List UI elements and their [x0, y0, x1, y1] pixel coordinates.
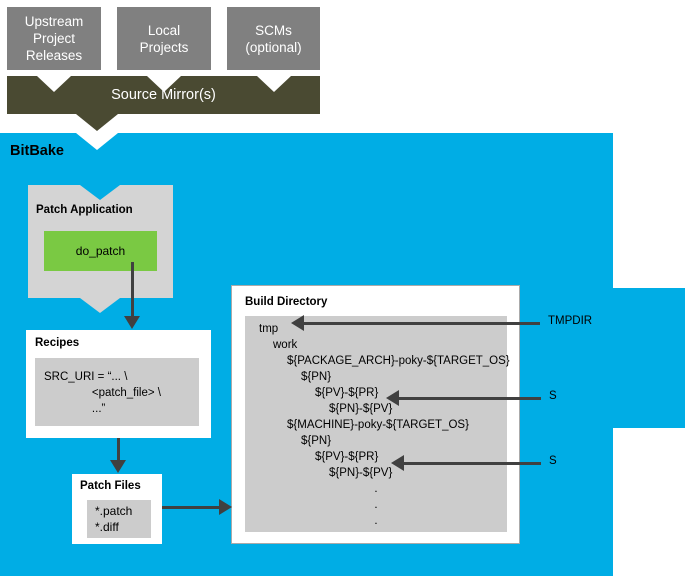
source-box-label: SCMs (optional): [231, 22, 316, 56]
patch-application-panel[interactable]: Patch Application do_patch: [28, 185, 173, 298]
arrow-patchfiles-to-builddir-shaft: [162, 506, 222, 509]
bitbake-label: BitBake: [10, 143, 64, 159]
arrow-patchfiles-to-builddir-head-icon: [219, 499, 232, 515]
arrow-dopatch-to-recipes-shaft: [131, 262, 134, 318]
build-directory-tree: tmpwork${PACKAGE_ARCH}-poky-${TARGET_OS}…: [245, 321, 507, 529]
build-directory-tree-node: ${PN}-${PV}: [245, 401, 507, 417]
arrow-recipes-to-patchfiles-head-icon: [110, 460, 126, 473]
callout-tmpdir-head-icon: [291, 315, 304, 331]
s-callout-label-1: S: [549, 390, 557, 402]
patch-files-title: Patch Files: [80, 480, 141, 492]
source-notch-scms-icon: [257, 76, 291, 92]
patch-application-title: Patch Application: [36, 204, 133, 216]
build-directory-title: Build Directory: [245, 296, 327, 308]
recipes-inner-panel: SRC_URI = “... \ <patch_file> \ ...”: [35, 358, 199, 426]
recipes-title: Recipes: [35, 337, 79, 349]
build-directory-tree-node: ${PN}: [245, 433, 507, 449]
bitbake-top-notch-icon: [76, 133, 118, 150]
source-box-upstream-project-releases[interactable]: Upstream Project Releases: [7, 7, 101, 70]
callout-s1-shaft: [395, 397, 541, 400]
recipes-src-uri-text: SRC_URI = “... \ <patch_file> \ ...”: [44, 369, 161, 417]
callout-s1-head-icon: [386, 390, 399, 406]
build-directory-tree-node: ${PN}-${PV}: [245, 465, 507, 481]
patch-files-entries: *.patch *.diff: [95, 503, 132, 535]
callout-tmpdir-shaft: [300, 322, 540, 325]
source-box-label: Local Projects: [121, 22, 207, 56]
source-box-scms-optional[interactable]: SCMs (optional): [227, 7, 320, 70]
do-patch-task-box[interactable]: do_patch: [44, 231, 157, 271]
do-patch-label: do_patch: [76, 244, 125, 258]
callout-s2-head-icon: [391, 455, 404, 471]
build-directory-ellipsis-dot: .: [245, 497, 507, 513]
source-box-label: Upstream Project Releases: [11, 13, 97, 64]
tmpdir-callout-label: TMPDIR: [548, 315, 592, 327]
source-notch-upstream-icon: [37, 76, 71, 92]
patch-files-panel[interactable]: Patch Files *.patch *.diff: [72, 474, 162, 544]
arrow-dopatch-to-recipes-head-icon: [124, 316, 140, 329]
s-callout-label-2: S: [549, 455, 557, 467]
build-directory-tree-node: work: [245, 337, 507, 353]
build-directory-tree-node: ${PN}: [245, 369, 507, 385]
recipes-panel[interactable]: Recipes SRC_URI = “... \ <patch_file> \ …: [26, 330, 211, 438]
patch-files-inner-panel: *.patch *.diff: [87, 500, 151, 538]
build-directory-ellipsis-dot: .: [245, 481, 507, 497]
patch-application-top-notch-icon: [80, 185, 120, 200]
build-directory-inner-panel: tmpwork${PACKAGE_ARCH}-poky-${TARGET_OS}…: [245, 316, 507, 532]
patch-application-bottom-chevron-icon: [80, 298, 120, 313]
build-directory-tree-node: ${PACKAGE_ARCH}-poky-${TARGET_OS}: [245, 353, 507, 369]
source-notch-local-icon: [147, 76, 181, 92]
build-directory-ellipsis-dot: .: [245, 513, 507, 529]
callout-s2-shaft: [400, 462, 541, 465]
source-box-local-projects[interactable]: Local Projects: [117, 7, 211, 70]
arrow-recipes-to-patchfiles-shaft: [117, 438, 120, 462]
build-directory-tree-node: ${MACHINE}-poky-${TARGET_OS}: [245, 417, 507, 433]
source-mirror-chevron-icon: [76, 114, 118, 131]
